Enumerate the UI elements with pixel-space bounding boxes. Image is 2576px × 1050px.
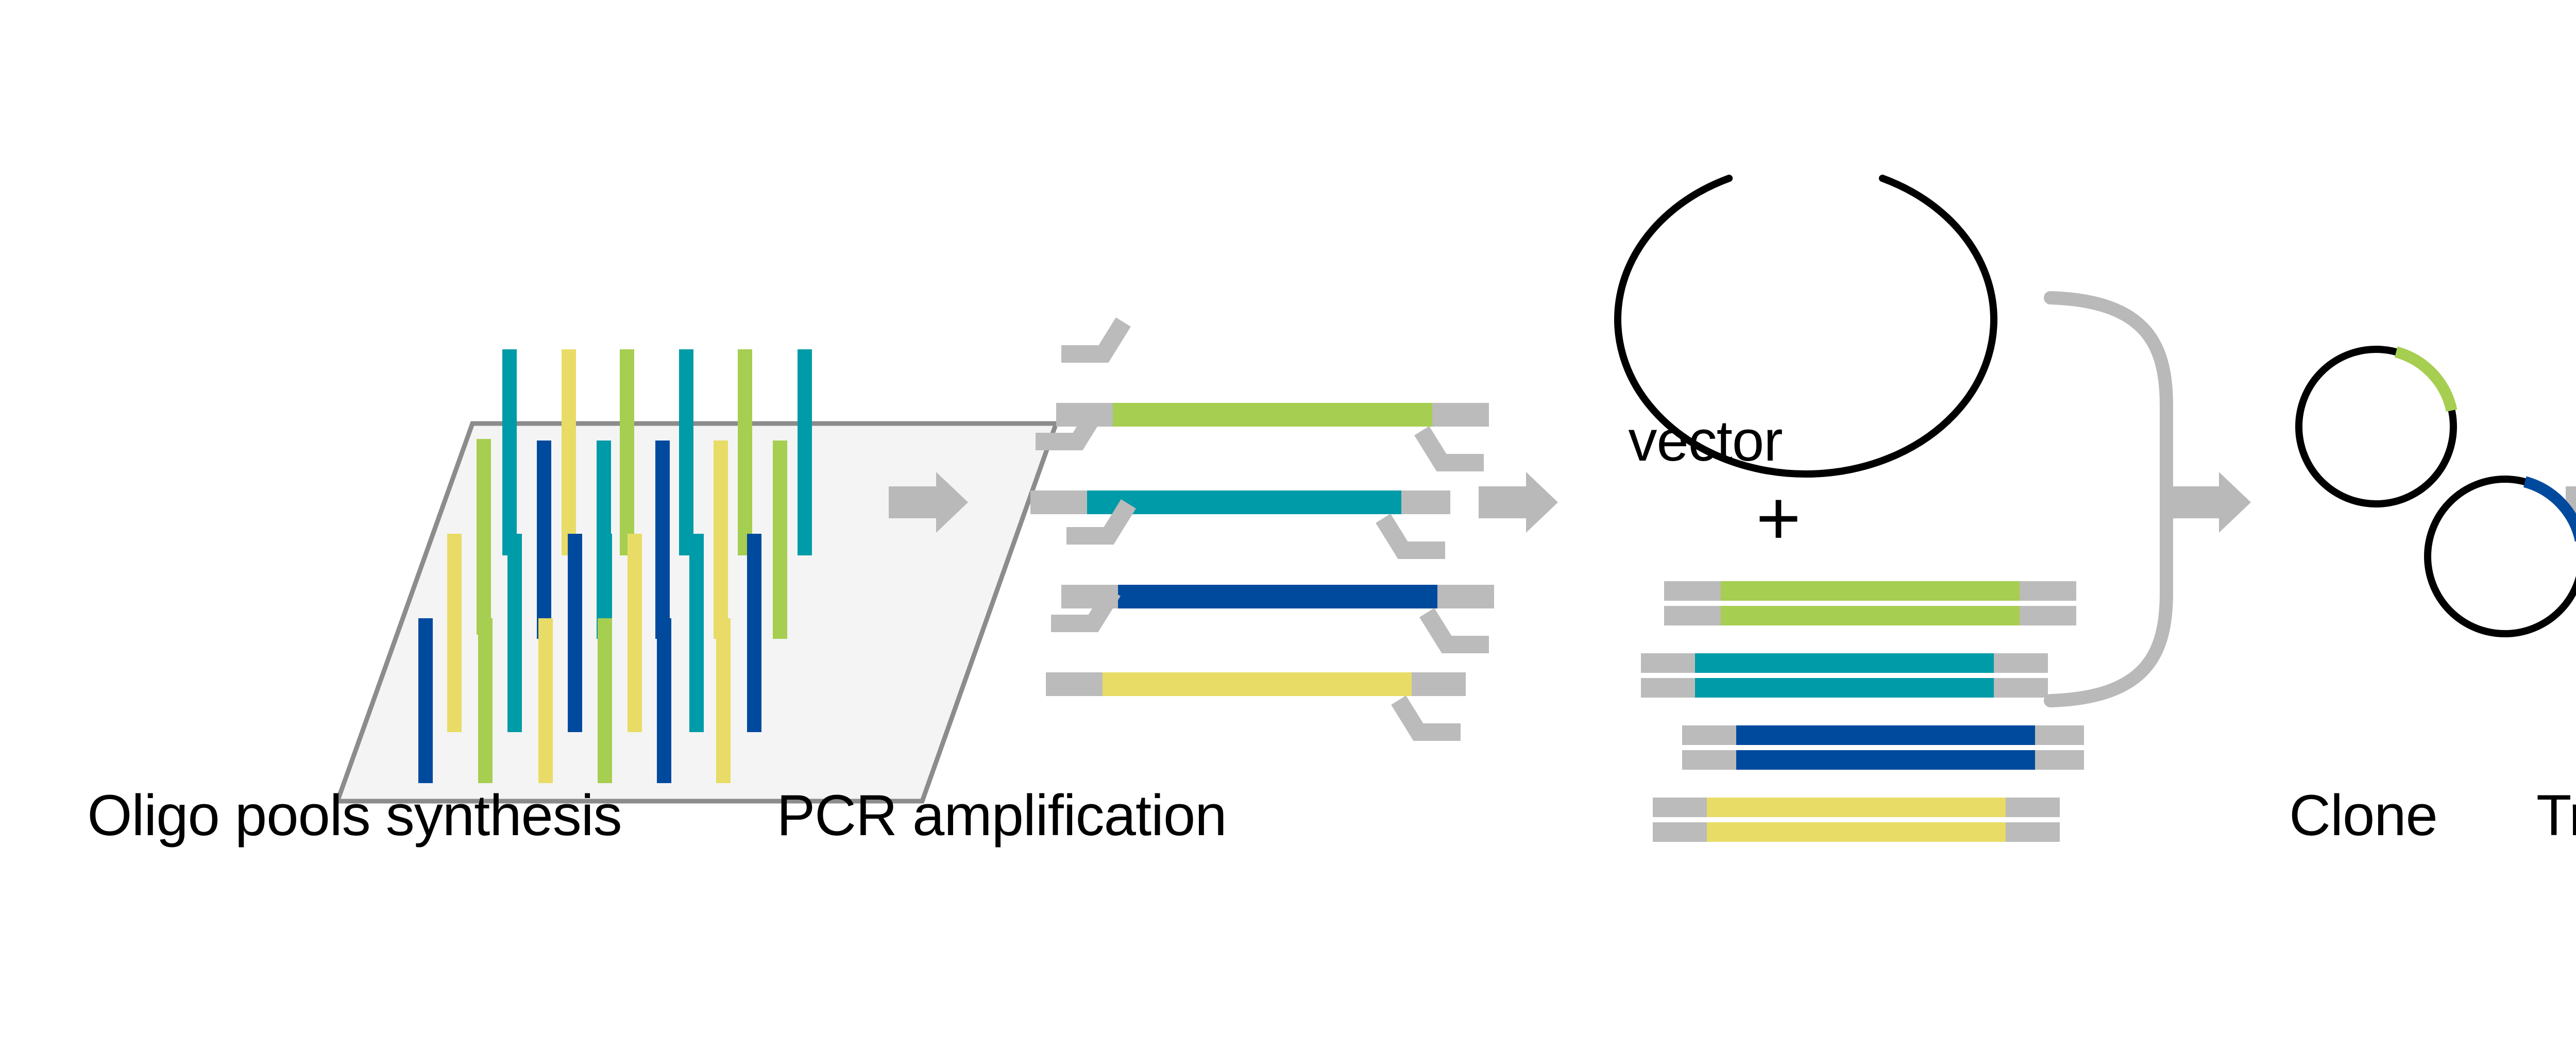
oligo-bar xyxy=(477,439,491,635)
oligo-bar xyxy=(568,534,582,732)
insert-teal xyxy=(1641,653,2048,698)
stage-label-clone: Clone xyxy=(2289,787,2437,844)
insert-blue xyxy=(1682,725,2084,770)
pcr-reverse-primer xyxy=(1399,700,1461,732)
arrow-pcr-to-vector-shape xyxy=(1479,472,1558,533)
insert-body xyxy=(1707,798,2006,817)
insert-body xyxy=(1721,581,2020,601)
oligo-bar xyxy=(679,349,693,555)
oligo-bar xyxy=(689,534,704,732)
insert-adapter-right xyxy=(2035,750,2084,770)
insert-body xyxy=(1695,678,1994,698)
oligo-bar xyxy=(538,618,553,783)
insert-adapter-right xyxy=(2035,725,2084,745)
insert-adapter-right xyxy=(1994,678,2048,698)
pcr-adapter-left xyxy=(1046,672,1103,696)
insert-adapter-right xyxy=(2020,581,2076,601)
pcr-insert-body xyxy=(1103,672,1412,696)
pcr-reverse-primer xyxy=(1427,613,1489,645)
plus-symbol: + xyxy=(1756,479,1801,556)
insert-adapter-left xyxy=(1664,581,1721,601)
insert-adapter-right xyxy=(2020,606,2076,625)
arrow-brace-to-clone-shape xyxy=(2172,472,2251,533)
brace-curve xyxy=(2050,298,2166,701)
insert-body xyxy=(1736,750,2035,770)
pcr-strand-green xyxy=(1056,322,1489,463)
workflow-diagram: vector + Oligo pools synthesis PCR ampli… xyxy=(0,0,2576,1050)
insert-fragments-group xyxy=(1641,581,2084,842)
insert-body xyxy=(1707,822,2006,842)
insert-body xyxy=(1736,725,2035,745)
pcr-forward-primer xyxy=(1061,322,1123,354)
insert-adapter-left xyxy=(1664,606,1721,625)
oligo-bar xyxy=(747,534,761,732)
insert-adapter-right xyxy=(2006,822,2060,842)
oligo-pool-array xyxy=(337,349,1056,801)
oligo-bar xyxy=(714,441,728,639)
pcr-adapter-right xyxy=(1401,490,1450,514)
oligo-bar xyxy=(628,534,642,732)
insert-yellow xyxy=(1653,798,2060,842)
insert-adapter-left xyxy=(1653,822,1707,842)
insert-adapter-right xyxy=(2006,798,2060,817)
oligo-bar xyxy=(507,534,522,732)
insert-green xyxy=(1664,581,2076,625)
pcr-adapter-right xyxy=(1412,672,1466,696)
oligo-bar xyxy=(562,349,576,555)
pcr-adapter-right xyxy=(1437,585,1494,608)
arrow-brace-to-clone xyxy=(2172,472,2251,533)
clone-plasmid-green xyxy=(2299,349,2453,504)
insert-adapter-left xyxy=(1653,798,1707,817)
insert-adapter-left xyxy=(1641,653,1695,673)
arrow-pcr-to-vector xyxy=(1479,472,1558,533)
clone-plasmids-group xyxy=(2299,349,2576,634)
pcr-insert-body xyxy=(1113,403,1432,427)
insert-body xyxy=(1721,606,2020,625)
insert-adapter-left xyxy=(1682,725,1736,745)
oligo-bar xyxy=(657,618,671,783)
pcr-strand-blue xyxy=(1061,504,1494,645)
oligo-bar xyxy=(418,618,433,783)
oligo-bar xyxy=(620,349,634,555)
pcr-reverse-primer-stroke xyxy=(1383,518,1445,550)
oligo-bar xyxy=(447,534,462,732)
stage-label-transfection: Transfection xyxy=(2536,787,2576,844)
oligo-bar xyxy=(502,349,517,555)
clone-plasmid-blue xyxy=(2428,479,2576,634)
stage-label-pcr: PCR amplification xyxy=(776,787,1226,844)
pcr-amplification-group xyxy=(1030,322,1494,732)
pcr-adapter-right xyxy=(1432,403,1489,427)
insert-adapter-left xyxy=(1641,678,1695,698)
pcr-strand-yellow xyxy=(1046,591,1466,732)
pcr-reverse-primer-stroke xyxy=(1422,431,1484,463)
oligo-bar xyxy=(738,349,752,555)
pcr-reverse-primer xyxy=(1422,431,1484,463)
insert-adapter-right xyxy=(1994,653,2048,673)
oligo-bar xyxy=(537,441,551,639)
pcr-forward-primer-stroke xyxy=(1061,322,1123,354)
assembly-brace xyxy=(2050,298,2166,701)
oligo-bar xyxy=(773,441,787,639)
pcr-reverse-primer-stroke xyxy=(1399,700,1461,732)
oligo-bar xyxy=(655,441,670,639)
pcr-adapter-left xyxy=(1030,490,1087,514)
pcr-reverse-primer-stroke xyxy=(1427,613,1489,645)
pcr-insert-body xyxy=(1118,585,1437,608)
oligo-bar xyxy=(716,618,731,783)
plasmid-insert-arc xyxy=(2396,352,2452,411)
oligo-bar xyxy=(598,618,612,783)
oligo-bar xyxy=(798,349,812,555)
vector-label: vector xyxy=(1629,412,1783,470)
workflow-canvas xyxy=(0,0,2576,1050)
oligo-bar xyxy=(478,618,493,783)
pcr-reverse-primer xyxy=(1383,518,1445,550)
insert-adapter-left xyxy=(1682,750,1736,770)
insert-body xyxy=(1695,653,1994,673)
stage-label-oligo-pools: Oligo pools synthesis xyxy=(87,787,621,844)
